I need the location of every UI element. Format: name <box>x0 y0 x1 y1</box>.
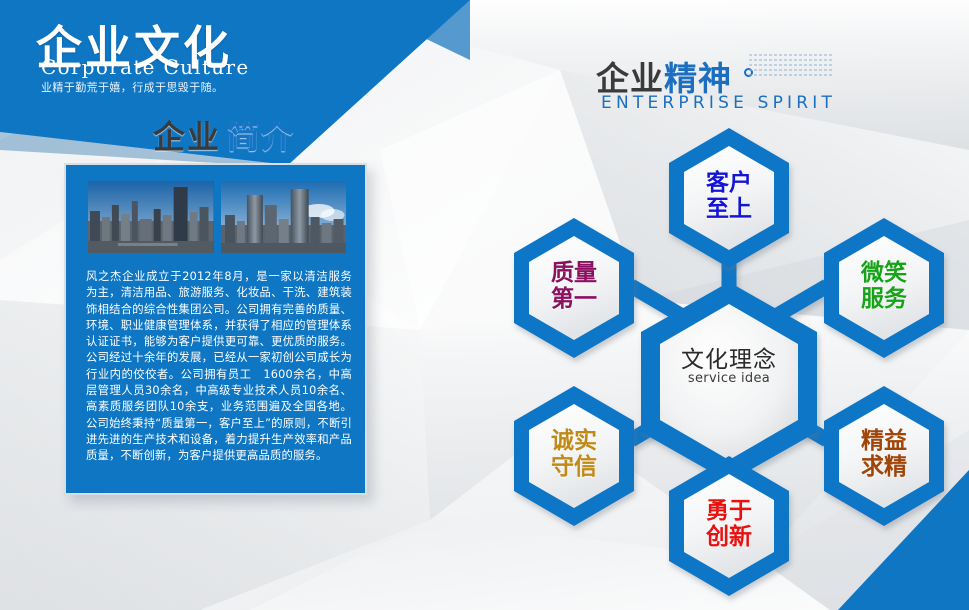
center-label-en: service idea <box>659 371 799 386</box>
city-skyline-photo-2 <box>221 181 347 253</box>
company-intro-heading: 企业简介 <box>153 112 295 158</box>
hexagon-innovation <box>669 456 789 596</box>
hexagon-customer-first <box>669 128 789 268</box>
intro-heading-blue: 简介 <box>227 118 295 156</box>
company-intro-text: 风之杰企业成立于2012年8月，是一家以清洁服务为主，清洁用品、旅游服务、化妆品… <box>86 269 352 465</box>
intro-heading-dark: 企业 <box>153 118 221 156</box>
enterprise-spirit-heading: 企业精神 ENTERPRISE SPIRIT <box>596 52 896 112</box>
hexagon-integrity <box>514 386 634 526</box>
hexagon-quality-first <box>514 218 634 358</box>
hexagon-excellence <box>824 386 944 526</box>
poster-canvas: 企业文化 Corporate Culture 业精于勤荒于嬉，行成于思毁于随。 … <box>0 0 969 610</box>
spirit-title-en: ENTERPRISE SPIRIT <box>601 93 836 113</box>
city-skyline-photo-1 <box>88 181 214 253</box>
hexagon-smile-service <box>824 218 944 358</box>
decorative-text-lines <box>749 54 833 88</box>
banner-title-en: Corporate Culture <box>41 55 249 79</box>
center-label-cn: 文化理念 <box>669 340 789 374</box>
culture-hexagon-diagram: 客户 至上 质量 第一 微笑 服务 诚实 守信 精益 求精 勇于 创新 文化理念… <box>489 118 969 610</box>
photo-strip <box>88 181 346 253</box>
company-intro-card: 风之杰企业成立于2012年8月，是一家以清洁服务为主，清洁用品、旅游服务、化妆品… <box>64 163 367 495</box>
banner-tagline: 业精于勤荒于嬉，行成于思毁于随。 <box>41 79 223 95</box>
